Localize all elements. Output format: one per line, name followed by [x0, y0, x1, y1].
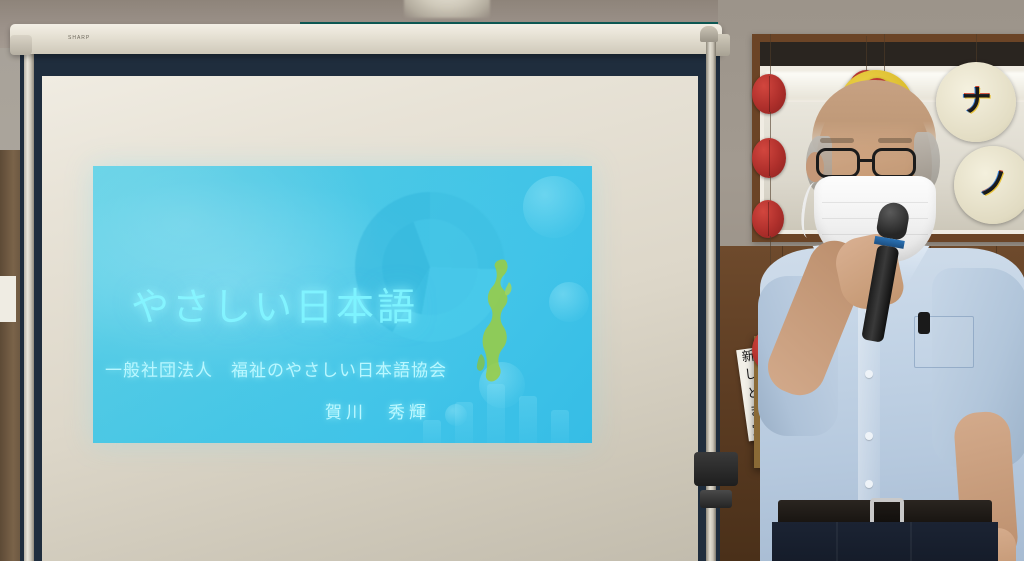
- bar-chart-bar: [423, 420, 441, 443]
- eyebrow: [878, 138, 912, 143]
- eyeglass-lens: [872, 148, 916, 178]
- microphone-head: [875, 200, 911, 241]
- presentation-photo-scene: 新年明けましておめでとうございます本年も宜しくお願 ナ キ: [0, 0, 1024, 561]
- japan-map-graphic: [475, 258, 527, 388]
- shirt-button: [865, 370, 873, 378]
- screen-brand-label: SHARP: [68, 35, 90, 41]
- trousers: [772, 522, 998, 561]
- eyebrow: [820, 138, 854, 143]
- eyeglass-bridge: [860, 159, 874, 162]
- screen-pole-clamp: [700, 490, 732, 508]
- screen-pole-clamp: [694, 452, 738, 486]
- left-doorway: [0, 150, 22, 561]
- eyeglass-lens: [816, 148, 860, 178]
- presenter: [762, 40, 1024, 561]
- shirt-button: [865, 480, 873, 488]
- slide-title: やさしい日本語: [131, 276, 418, 331]
- screen-pole-cap: [700, 26, 718, 42]
- bubble-graphic: [549, 282, 589, 322]
- lavalier-mic-clip: [918, 312, 930, 334]
- eyeglasses: [814, 148, 936, 178]
- shirt-button: [865, 432, 873, 440]
- projected-slide: やさしい日本語 一般社団法人 福祉のやさしい日本語協会 賀川 秀輝: [93, 166, 592, 443]
- bubble-graphic: [523, 176, 585, 238]
- bar-chart-bar: [551, 410, 569, 443]
- bar-chart-bar: [519, 396, 537, 443]
- bar-chart-bar: [487, 384, 505, 443]
- screen-stand-pole-left: [24, 40, 34, 561]
- rollbar-end-cap: [10, 35, 32, 55]
- slide-presenter-name: 賀川 秀輝: [325, 398, 430, 423]
- projector-screen-rollbar: SHARP: [10, 24, 722, 54]
- slide-organization: 一般社団法人 福祉のやさしい日本語協会: [105, 356, 447, 381]
- ceiling-light-fixture: [404, 0, 490, 18]
- left-wall-paper: [0, 276, 16, 322]
- bar-chart-bar: [455, 402, 473, 443]
